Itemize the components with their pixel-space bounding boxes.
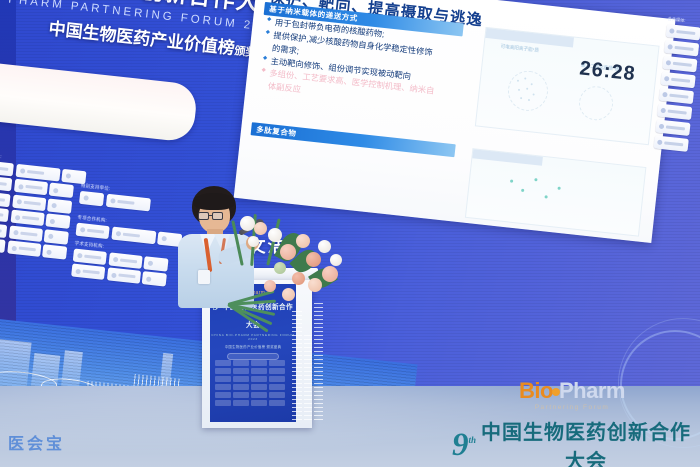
flower-bloom: [280, 244, 296, 260]
speaker-glasses-bridge: [209, 215, 213, 216]
flower-bloom: [330, 254, 342, 266]
flower-bloom: [306, 252, 321, 267]
brand-pharm: Pharm: [559, 378, 625, 403]
flower-bloom: [240, 216, 255, 231]
flower-bloom: [274, 262, 286, 274]
podium-subtitle: 中国生物医药产业价值榜 颁奖盛典: [210, 344, 296, 349]
podium-sponsor-grid: [215, 360, 291, 408]
diagram-panel-1-header-bar: [485, 28, 574, 47]
diagram-dot-cluster: [513, 75, 542, 104]
video-watermark: 医会宝: [8, 430, 65, 454]
flower-bloom: [308, 278, 322, 292]
speaker-glasses-left: [198, 212, 209, 220]
slide-diagram-panel-2: [465, 148, 647, 236]
flower-bloom: [254, 222, 267, 235]
flower-bloom: [322, 266, 338, 282]
diagram-nanoparticle-outline: [577, 85, 614, 122]
podium-title-en: CHINA BIO-PHARM PARTNERING FORUM 2023: [210, 333, 296, 341]
flower-bloom: [248, 236, 259, 247]
biopharm-wordmark: BioPharm: [452, 380, 692, 402]
slide-section-header-2: 多肽复合物: [251, 122, 456, 157]
flower-bloom: [296, 234, 310, 248]
flower-bloom: [268, 228, 282, 242]
brand-bio: Bio: [519, 378, 553, 403]
flower-bloom: [282, 288, 295, 301]
sponsor-logo-wall: 主办单位: 特别支持单位: 专项合作机构: 学术支持机构:: [0, 152, 191, 349]
speaker-badge: [198, 270, 210, 284]
flower-arrangement: [218, 218, 346, 328]
brand-subtitle: Partnering Forum: [452, 404, 692, 411]
podium-date-chip: [227, 353, 279, 360]
flower-bloom: [292, 272, 305, 285]
diagram-label-left: 可电离阳离子脂*质: [500, 44, 539, 54]
event-title-row: 9th 中国生物医药创新合作大会: [452, 416, 692, 467]
conference-stage-photo: 创新合作大会 PHARM PARTNERING FORUM 2023 中国生物医…: [0, 0, 700, 467]
foliage-stem: [266, 218, 281, 265]
flower-bloom: [318, 240, 331, 253]
flower-bloom: [264, 280, 276, 292]
event-logo-floor: BioPharm Partnering Forum 9th 中国生物医药创新合作…: [452, 380, 692, 467]
event-title-cn: 中国生物医药创新合作大会: [480, 416, 692, 467]
event-ordinal: 9th: [452, 432, 476, 458]
diagram-panel-2-header-bar: [472, 149, 543, 166]
speaker-fringe: [193, 193, 235, 210]
